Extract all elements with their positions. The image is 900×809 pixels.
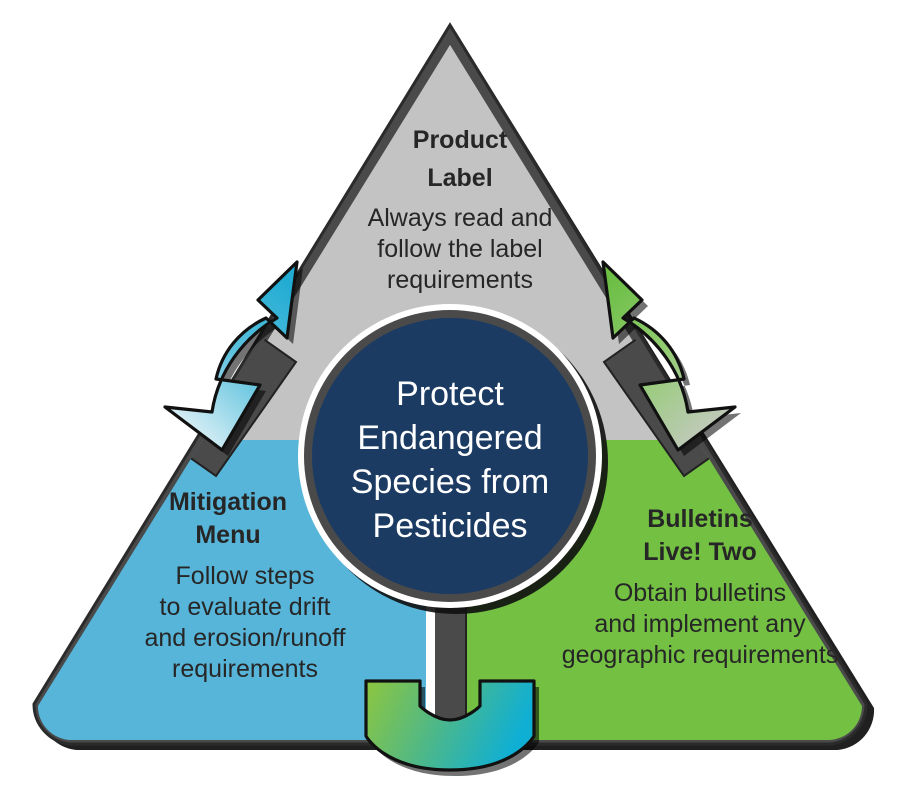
segment-body-line: Always read and	[368, 204, 553, 232]
segment-title-line: Bulletins	[647, 505, 753, 533]
segment-body-line: geographic requirements	[562, 641, 839, 669]
triangle-cycle-diagram: Product Label Always read and follow the…	[0, 0, 900, 809]
hub-line: Pesticides	[373, 507, 528, 545]
segment-title-line: Live! Two	[643, 538, 756, 566]
hub-line: Protect	[396, 375, 504, 413]
hub-line: Endangered	[357, 419, 542, 457]
segment-body-line: Obtain bulletins	[614, 579, 786, 607]
segment-body-line: follow the label	[377, 235, 542, 263]
segment-body-line: and erosion/runoff	[144, 624, 345, 652]
segment-title-line: Mitigation	[169, 488, 287, 516]
segment-body-line: Follow steps	[176, 562, 315, 590]
segment-title-line: Label	[427, 164, 492, 192]
segment-body-line: and implement any	[594, 610, 806, 638]
segment-title-line: Product	[413, 126, 508, 154]
segment-body-line: requirements	[172, 655, 318, 683]
segment-body-line: requirements	[387, 266, 533, 294]
segment-title-line: Menu	[195, 521, 260, 549]
segment-body-line: to evaluate drift	[160, 593, 331, 621]
diagram-root: Product Label Always read and follow the…	[0, 0, 900, 809]
hub-line: Species from	[351, 463, 549, 501]
